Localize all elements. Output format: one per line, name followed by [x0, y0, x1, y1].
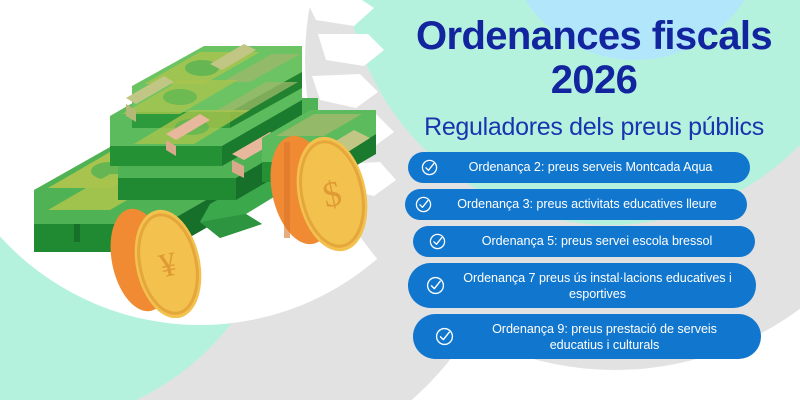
content-column: Ordenances fiscals 2026 Reguladores dels…	[388, 0, 800, 400]
list-item-label: Ordenança 9: preus prestació de serveis …	[464, 321, 749, 353]
list-item[interactable]: Ordenança 5: preus servei escola bressol	[413, 226, 755, 257]
list-item[interactable]: Ordenança 3: preus activitats educatives…	[405, 189, 747, 220]
list-item-label: Ordenança 5: preus servei escola bressol	[453, 234, 745, 249]
list-item[interactable]: Ordenança 7 preus ús instal·lacions educ…	[408, 263, 756, 308]
list-item[interactable]: Ordenança 2: preus serveis Montcada Aqua	[408, 152, 750, 183]
title-line-1: Ordenances fiscals	[416, 14, 772, 58]
check-circle-icon	[429, 233, 446, 250]
poster-canvas: $ ¥ Ordenances fiscals 2026 Reguladores …	[0, 0, 800, 400]
title-line-2: 2026	[551, 58, 638, 102]
ordinance-list: Ordenança 2: preus serveis Montcada Aqua…	[388, 152, 800, 365]
list-item-label: Ordenança 7 preus ús instal·lacions educ…	[455, 270, 744, 302]
page-title: Ordenances fiscals 2026	[388, 14, 800, 102]
check-circle-icon	[415, 196, 432, 213]
list-item[interactable]: Ordenança 9: preus prestació de serveis …	[413, 314, 761, 359]
list-item-label: Ordenança 3: preus activitats educatives…	[439, 197, 739, 212]
check-circle-icon	[435, 327, 454, 346]
page-subtitle: Reguladores dels preus públics	[388, 112, 800, 142]
check-circle-icon	[426, 276, 445, 295]
money-illustration: $ ¥	[14, 38, 394, 318]
check-circle-icon	[421, 159, 438, 176]
list-item-label: Ordenança 2: preus serveis Montcada Aqua	[445, 160, 740, 175]
